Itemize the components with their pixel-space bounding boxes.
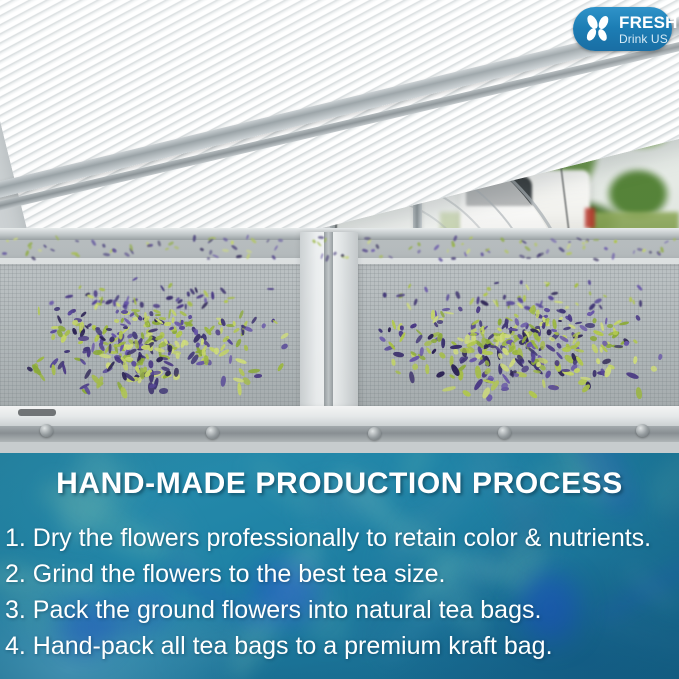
production-process-panel: HAND-MADE PRODUCTION PROCESS 1. Dry the … [0, 453, 679, 679]
process-step-list: 1. Dry the flowers professionally to ret… [0, 520, 679, 664]
flower-petal-back [207, 257, 210, 260]
flower-petal [254, 374, 262, 378]
flower-petal-back [534, 242, 538, 246]
flower-petal [535, 326, 540, 330]
flower-petal [506, 339, 512, 343]
flower-petal [391, 358, 396, 365]
flower-petal-back [2, 251, 7, 255]
flower-petal [542, 316, 546, 322]
flower-petal [121, 310, 128, 314]
flower-petal [561, 368, 570, 372]
fresh-drink-us-logo[interactable]: FRESH Drink US [573, 7, 672, 51]
frame-bolt-4 [498, 426, 511, 439]
flower-petal [211, 292, 214, 300]
flower-petal [204, 355, 209, 365]
flower-petal [164, 322, 171, 327]
flower-petal [522, 295, 526, 302]
truck-taillight [585, 208, 595, 228]
flower-petal-back [672, 237, 676, 241]
flower-petal [628, 297, 631, 302]
flower-petal-back [364, 236, 371, 240]
flower-petal-back [345, 256, 349, 260]
frame-bolt-1 [40, 424, 53, 437]
flower-petal [223, 300, 227, 303]
flower-petal [233, 321, 236, 326]
frame-bolt-2 [206, 426, 219, 439]
flower-petal [139, 302, 143, 308]
flower-petal-back [593, 239, 600, 242]
flower-petal [494, 281, 499, 283]
table-center-rail [300, 232, 358, 432]
flower-petal [140, 332, 144, 339]
page-title: HAND-MADE PRODUCTION PROCESS [0, 467, 679, 501]
frame-bolt-5 [636, 424, 649, 437]
process-step-1: 1. Dry the flowers professionally to ret… [0, 520, 679, 556]
flower-petal-back [614, 240, 617, 243]
flower-petal [187, 292, 190, 297]
table-front-frame [0, 406, 679, 428]
flower-petal [83, 346, 90, 351]
flower-petal [562, 346, 572, 352]
four-petal-flower-icon [580, 11, 616, 47]
flower-petal [213, 347, 219, 354]
flower-petal [215, 329, 220, 335]
frame-bolt-3 [368, 427, 381, 440]
flower-petal [78, 336, 89, 341]
logo-line-fresh: FRESH [619, 14, 678, 31]
product-infographic: FRESH Drink US HAND-MADE PRODUCTION PROC… [0, 0, 679, 679]
flower-petal [154, 314, 160, 316]
drying-tray-right [352, 258, 679, 428]
flower-petal [599, 347, 603, 353]
table-front-frame-lower [0, 426, 679, 442]
flower-petal-back [230, 239, 234, 244]
frame-slot-left [18, 409, 56, 416]
flower-petal [63, 349, 69, 353]
flower-petal [204, 297, 207, 302]
logo-line-drink-us: Drink US [619, 33, 678, 45]
process-step-4: 4. Hand-pack all tea bags to a premium k… [0, 628, 679, 664]
logo-wordmark: FRESH Drink US [619, 14, 678, 45]
process-step-2: 2. Grind the flowers to the best tea siz… [0, 556, 679, 592]
drying-tray-left [0, 258, 314, 428]
greenhouse-photo [0, 0, 679, 453]
flower-petal-back [446, 249, 449, 253]
process-step-3: 3. Pack the ground flowers into natural … [0, 592, 679, 628]
flower-petal [425, 364, 429, 374]
